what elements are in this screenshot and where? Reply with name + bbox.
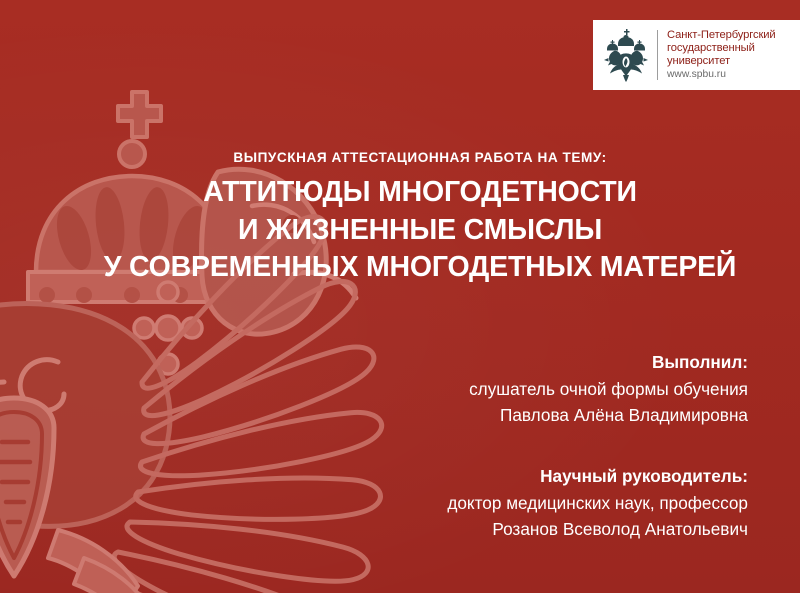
logo-text-block: Санкт-Петербургский государственный унив… xyxy=(667,29,776,80)
logo-line-2: государственный xyxy=(667,42,776,55)
spbu-logo-box: Санкт-Петербургский государственный унив… xyxy=(593,20,800,90)
logo-line-1: Санкт-Петербургский xyxy=(667,29,776,42)
supervisor-name: Розанов Всеволод Анатольевич xyxy=(228,516,748,542)
author-role: слушатель очной формы обучения xyxy=(228,376,748,402)
logo-line-3: университет xyxy=(667,55,776,68)
thesis-eyebrow-label: ВЫПУСКНАЯ АТТЕСТАЦИОННАЯ РАБОТА НА ТЕМУ: xyxy=(60,150,780,165)
title-block: ВЫПУСКНАЯ АТТЕСТАЦИОННАЯ РАБОТА НА ТЕМУ:… xyxy=(60,150,780,287)
logo-url: www.spbu.ru xyxy=(667,69,776,81)
author-credit-group: Выполнил: слушатель очной формы обучения… xyxy=(228,350,748,428)
supervisor-credit-group: Научный руководитель: доктор медицинских… xyxy=(228,464,748,542)
author-label: Выполнил: xyxy=(228,350,748,376)
credits-block: Выполнил: слушатель очной формы обучения… xyxy=(228,350,748,542)
thesis-title-line-1: АТТИТЮДЫ МНОГОДЕТНОСТИ xyxy=(60,174,780,212)
double-headed-eagle-emblem-icon xyxy=(603,27,649,83)
author-name: Павлова Алёна Владимировна xyxy=(228,402,748,428)
logo-divider xyxy=(657,30,658,80)
thesis-title-line-3: У СОВРЕМЕННЫХ МНОГОДЕТНЫХ МАТЕРЕЙ xyxy=(60,249,780,287)
supervisor-label: Научный руководитель: xyxy=(228,464,748,490)
thesis-title-line-2: И ЖИЗНЕННЫЕ СМЫСЛЫ xyxy=(60,212,780,250)
supervisor-role: доктор медицинских наук, профессор xyxy=(228,490,748,516)
presentation-title-slide: Санкт-Петербургский государственный унив… xyxy=(0,0,800,593)
